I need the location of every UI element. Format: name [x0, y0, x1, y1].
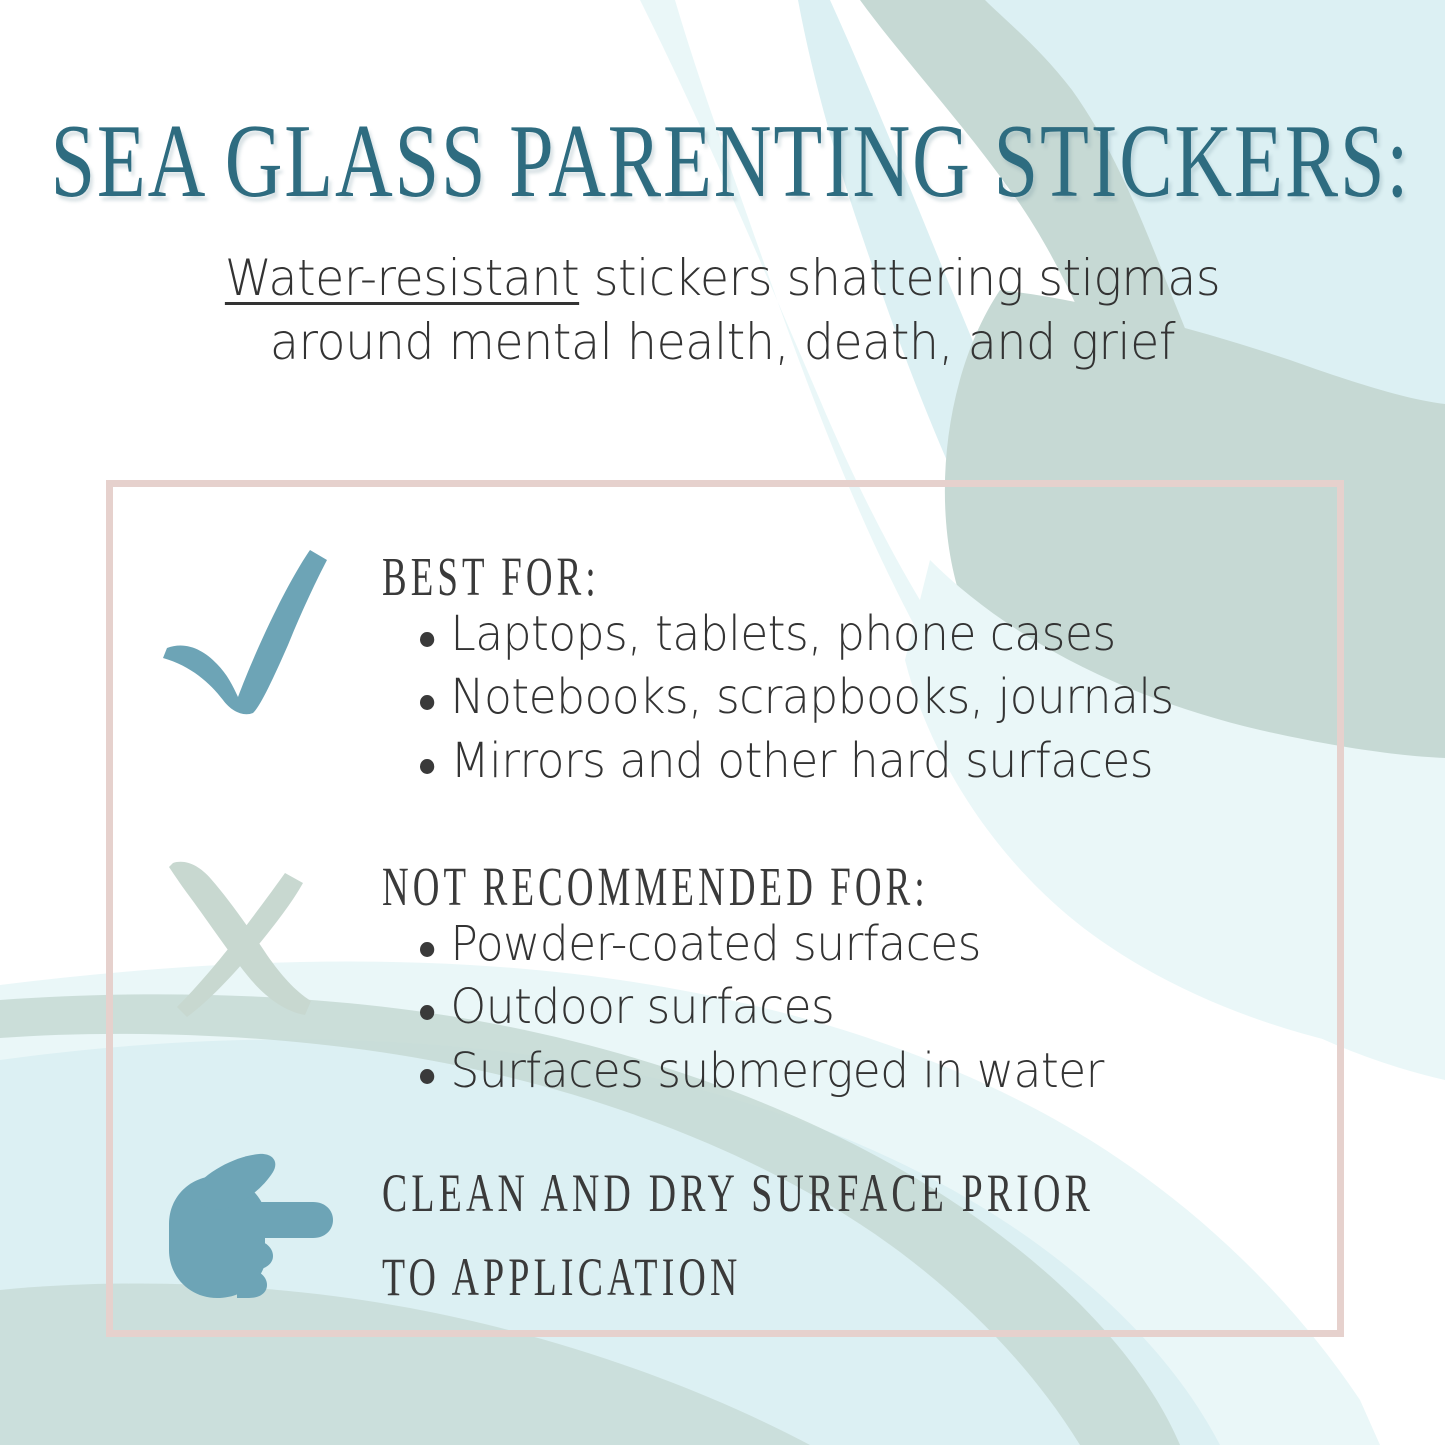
checkmark-icon	[155, 545, 345, 715]
not-recommended-list: Powder-coated surfaces Outdoor surfaces …	[382, 913, 1342, 1103]
list-item: Mirrors and other hard surfaces	[382, 730, 1294, 793]
subtitle-line-1: Water-resistant stickers shattering stig…	[36, 246, 1409, 310]
list-item: Surfaces submerged in water	[382, 1040, 1294, 1103]
subtitle-line-2: around mental health, death, and grief	[36, 310, 1409, 374]
list-item: Laptops, tablets, phone cases	[382, 603, 1294, 666]
subtitle: Water-resistant stickers shattering stig…	[36, 246, 1409, 374]
best-for-list: Laptops, tablets, phone cases Notebooks,…	[382, 603, 1342, 793]
note-line-1: CLEAN AND DRY SURFACE PRIOR	[382, 1152, 1188, 1236]
subtitle-rest: stickers shattering stigmas	[579, 249, 1220, 307]
list-item: Notebooks, scrapbooks, journals	[382, 666, 1294, 729]
note-line-2: TO APPLICATION	[382, 1236, 1188, 1320]
note-body: CLEAN AND DRY SURFACE PRIOR TO APPLICATI…	[382, 1152, 1342, 1292]
poster-canvas: SEA GLASS PARENTING STICKERS: Water-resi…	[0, 0, 1445, 1445]
pointing-hand-icon	[155, 1152, 345, 1322]
note-text: CLEAN AND DRY SURFACE PRIOR TO APPLICATI…	[382, 1152, 1188, 1319]
best-for-body: BEST FOR: Laptops, tablets, phone cases …	[382, 545, 1342, 793]
not-recommended-heading: NOT RECOMMENDED FOR:	[382, 855, 1169, 918]
list-item: Powder-coated surfaces	[382, 913, 1294, 976]
x-mark-icon	[155, 855, 345, 1025]
best-for-heading: BEST FOR:	[382, 545, 1169, 608]
subtitle-emphasis: Water-resistant	[225, 249, 579, 307]
list-item: Outdoor surfaces	[382, 976, 1294, 1039]
header: SEA GLASS PARENTING STICKERS: Water-resi…	[0, 108, 1445, 374]
page-title: SEA GLASS PARENTING STICKERS:	[51, 108, 1395, 213]
not-recommended-body: NOT RECOMMENDED FOR: Powder-coated surfa…	[382, 855, 1342, 1103]
